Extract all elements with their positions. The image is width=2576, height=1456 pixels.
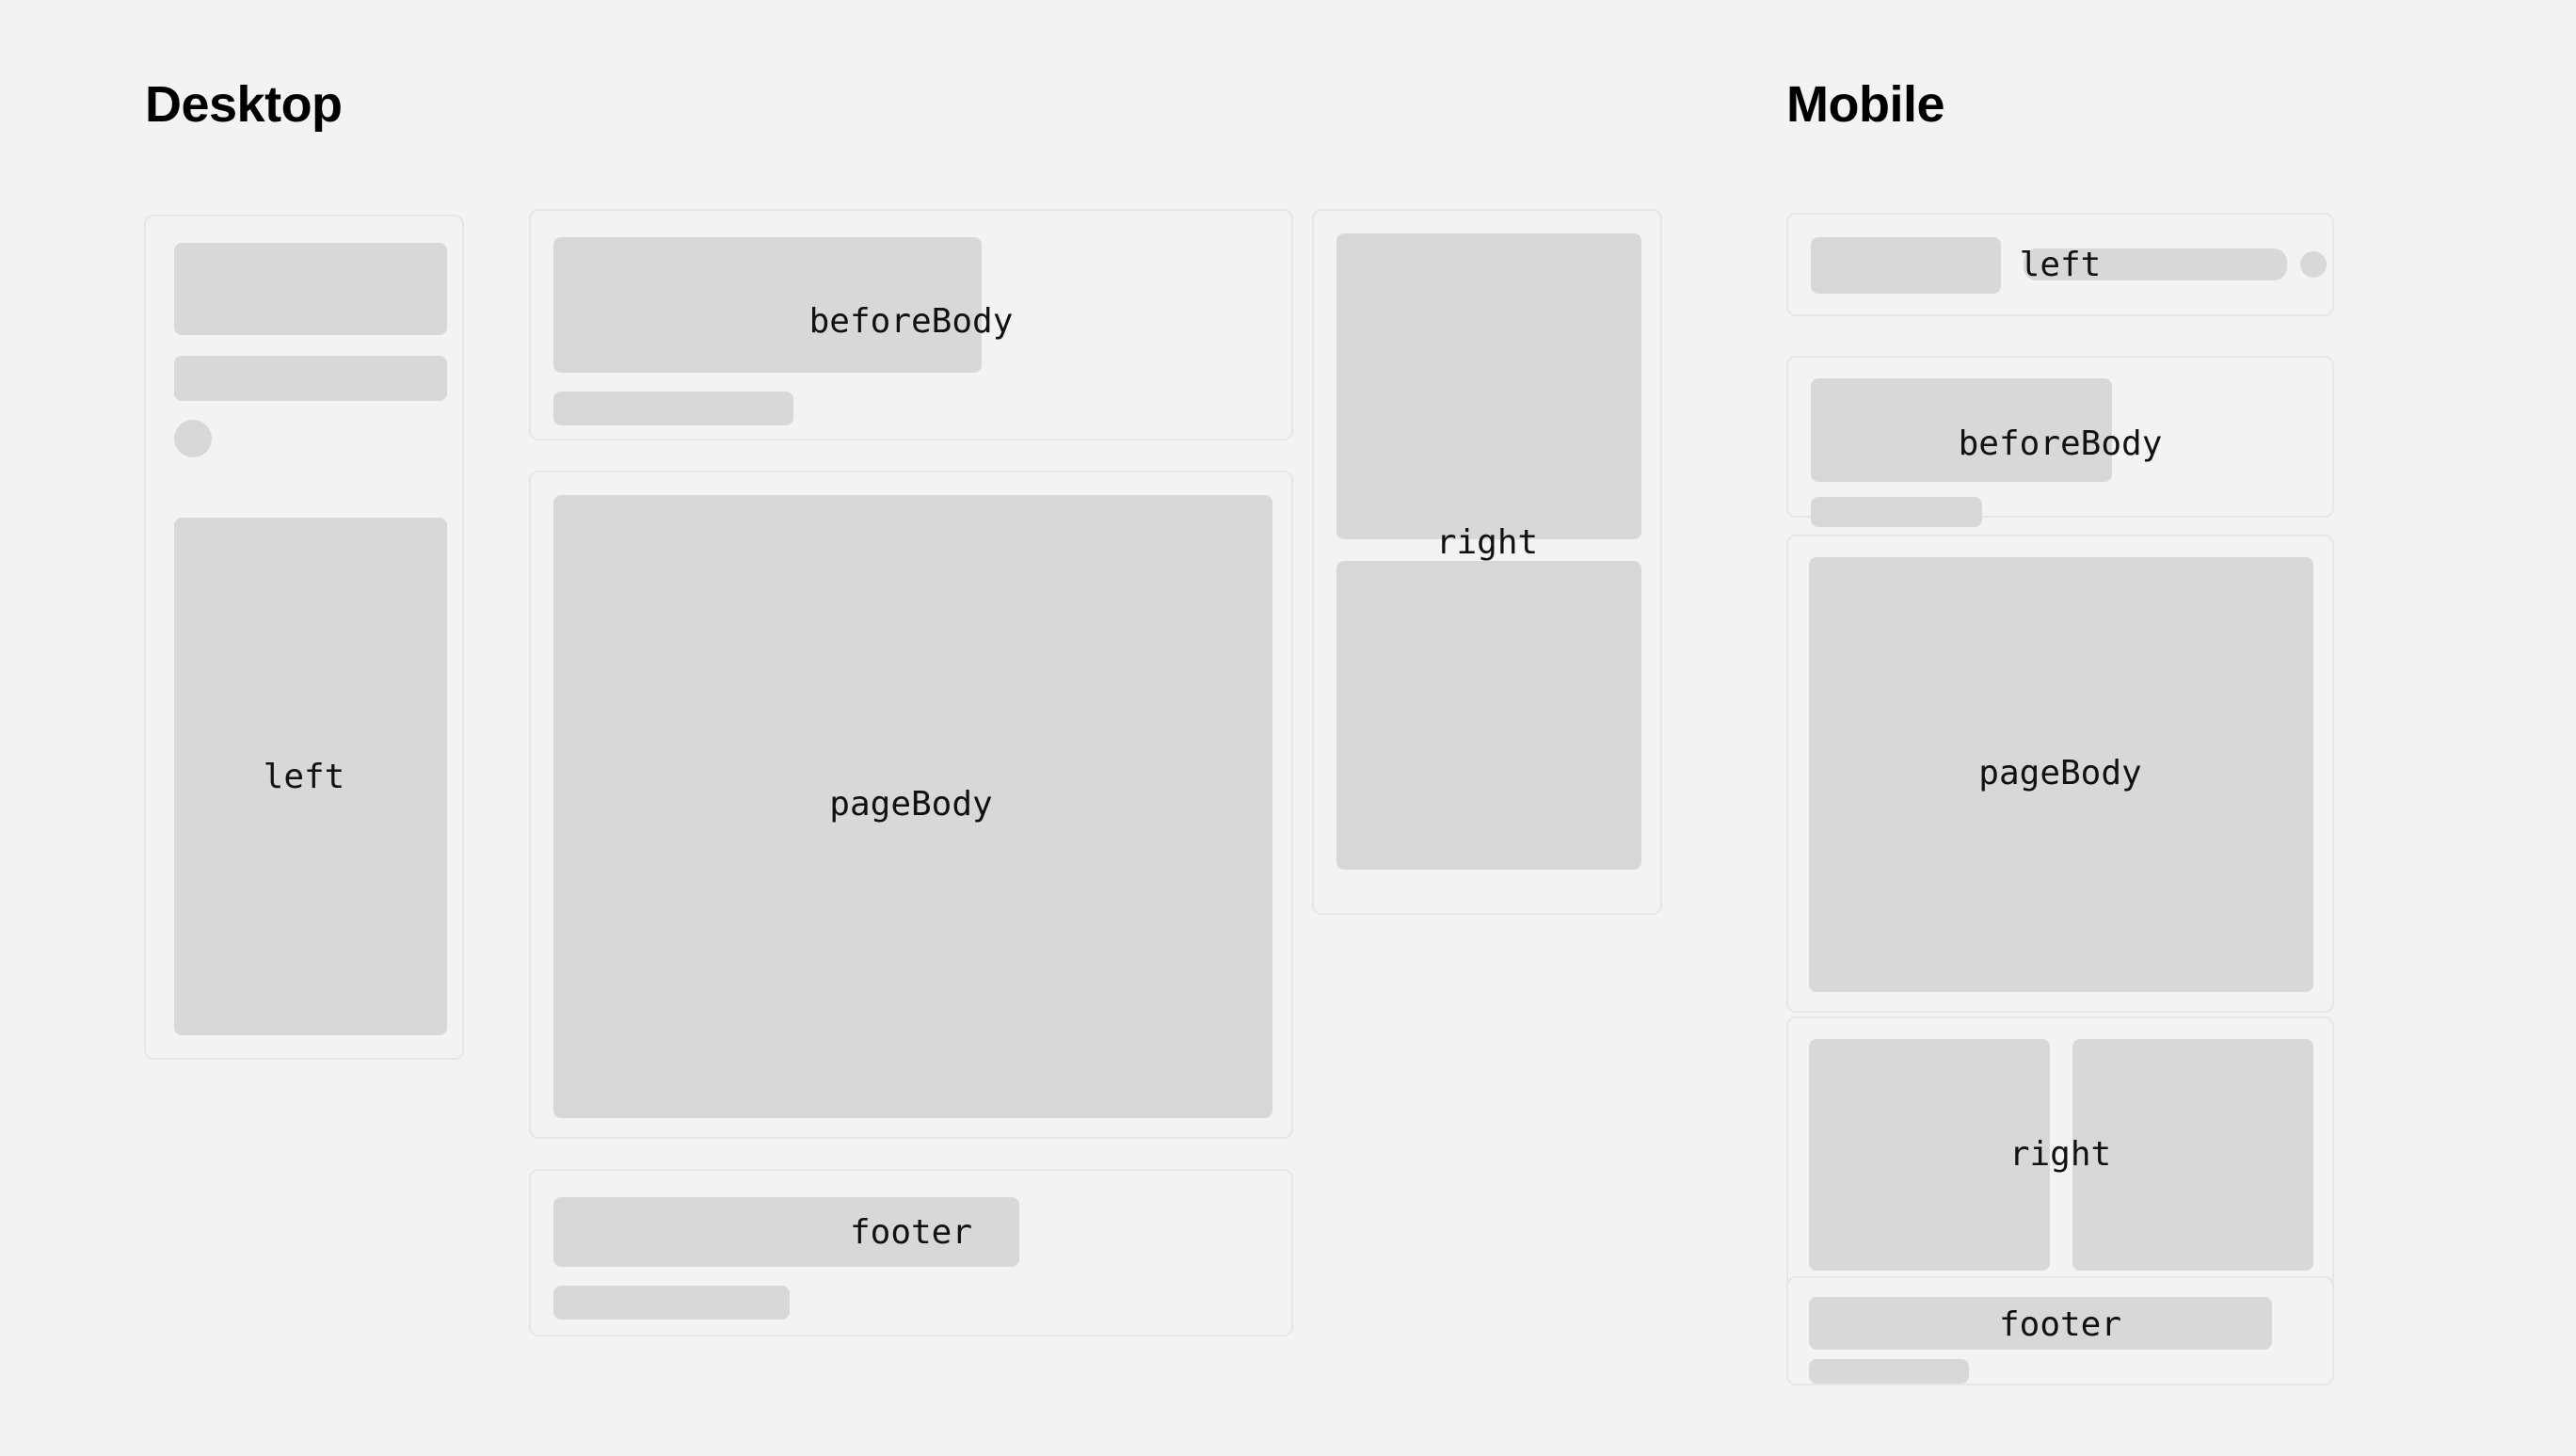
skeleton-block [1811, 497, 1982, 527]
desktop-pagebody-panel[interactable]: pageBody [529, 471, 1293, 1139]
mobile-pagebody-panel[interactable]: pageBody [1786, 535, 2334, 1013]
skeleton-block [553, 1197, 1019, 1267]
desktop-left-panel[interactable]: left [144, 215, 464, 1060]
mobile-left-panel[interactable]: left [1786, 213, 2334, 316]
skeleton-block [553, 237, 982, 373]
skeleton-avatar [174, 420, 212, 457]
layout-preview-canvas: Desktop left beforeBody pageBody footer … [0, 0, 2576, 1456]
desktop-footer-panel[interactable]: footer [529, 1169, 1293, 1336]
skeleton-block [553, 495, 1272, 1118]
skeleton-block [1811, 378, 2112, 482]
skeleton-block [1809, 1297, 2272, 1350]
skeleton-block [2072, 1039, 2313, 1271]
skeleton-block [174, 243, 447, 335]
skeleton-block [1811, 237, 2001, 294]
desktop-beforebody-panel[interactable]: beforeBody [529, 209, 1293, 440]
skeleton-block [1336, 233, 1641, 539]
skeleton-block [1809, 1039, 2050, 1271]
skeleton-block [1336, 561, 1641, 870]
skeleton-block [1809, 557, 2313, 992]
mobile-footer-panel[interactable]: footer [1786, 1276, 2334, 1385]
skeleton-block [174, 518, 447, 1035]
skeleton-block [553, 392, 793, 425]
skeleton-bar [2024, 248, 2287, 280]
skeleton-avatar [2300, 251, 2327, 278]
skeleton-block [174, 356, 447, 401]
mobile-beforebody-panel[interactable]: beforeBody [1786, 356, 2334, 518]
desktop-right-panel[interactable]: right [1312, 209, 1662, 915]
skeleton-block [553, 1286, 790, 1320]
skeleton-block [1809, 1359, 1969, 1384]
mobile-right-panel[interactable]: right [1786, 1016, 2334, 1289]
column-heading-desktop: Desktop [145, 79, 343, 130]
column-heading-mobile: Mobile [1786, 79, 1944, 130]
